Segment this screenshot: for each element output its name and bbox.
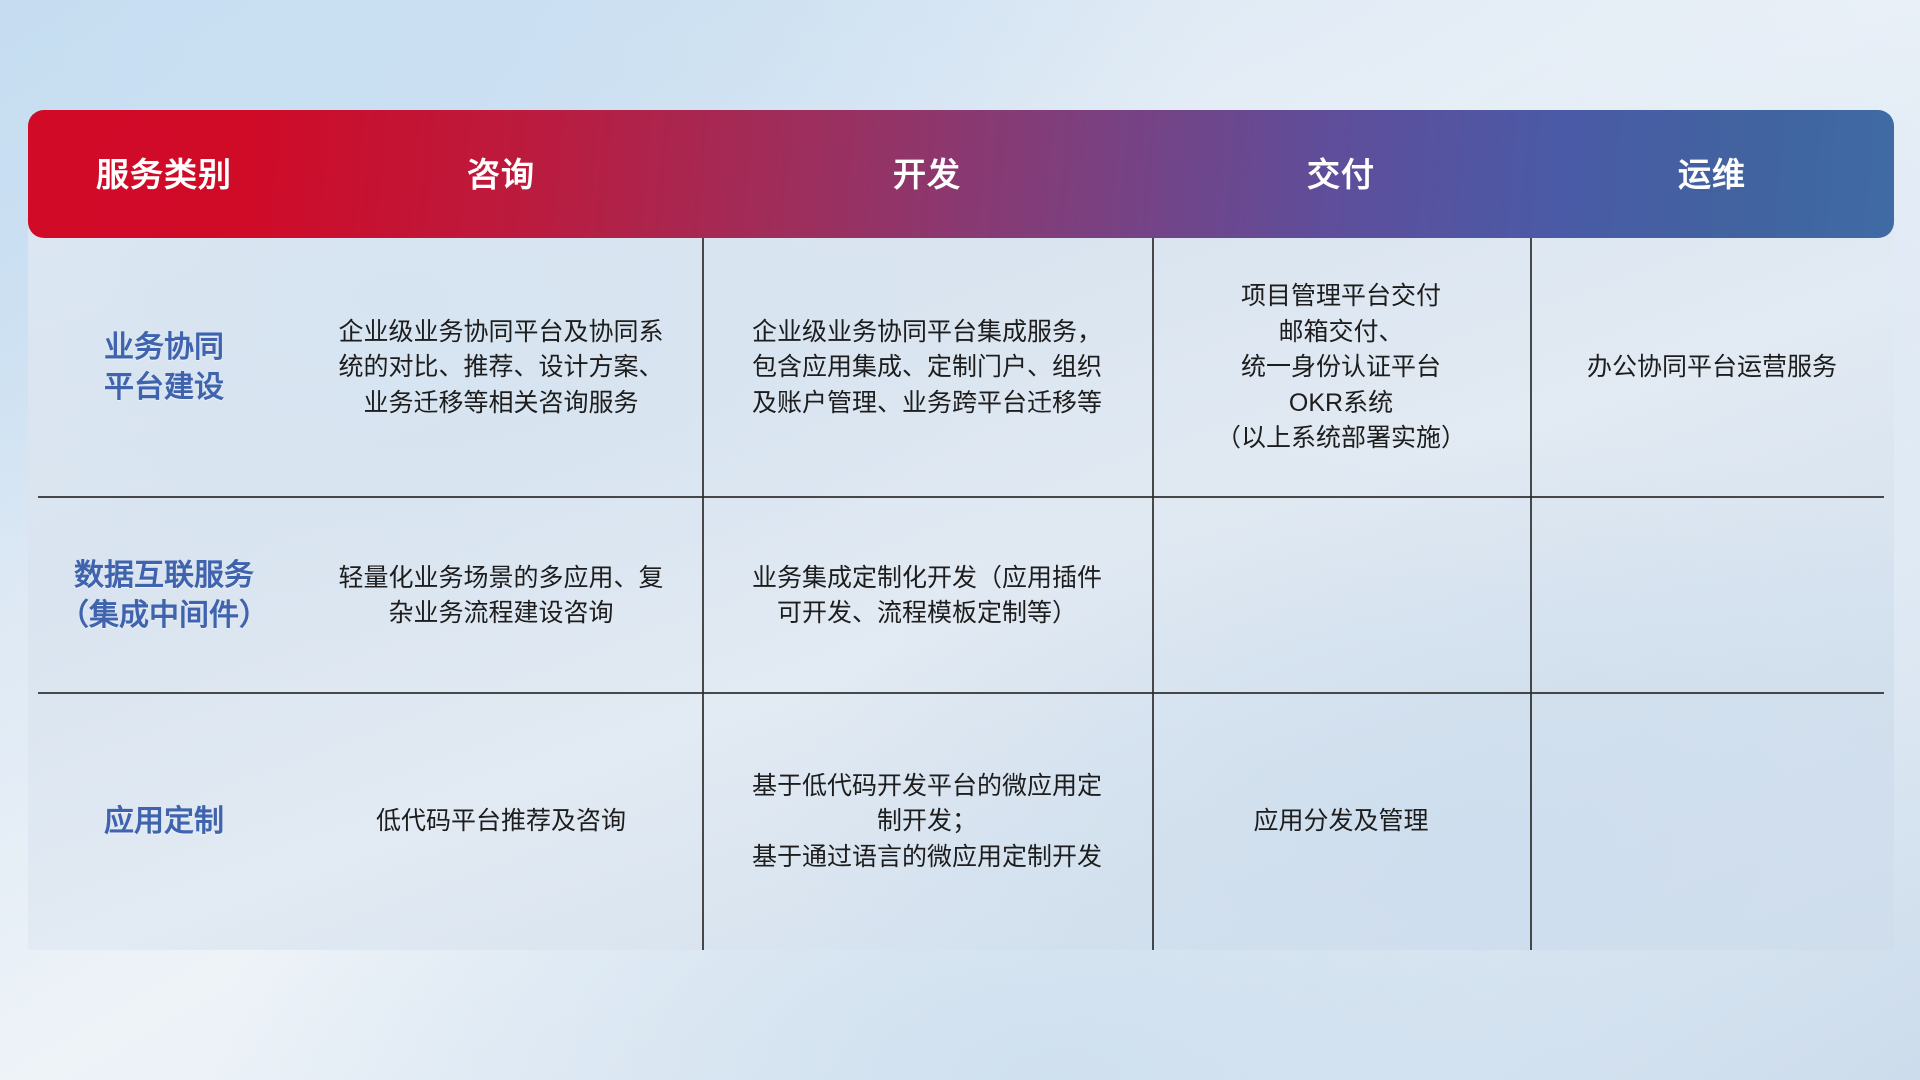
column-divider [1152, 238, 1154, 498]
column-divider [1152, 498, 1154, 694]
column-divider [702, 498, 704, 694]
cell-delivery [1152, 498, 1530, 694]
column-header-category: 服务类别 [28, 158, 300, 191]
cell-consulting: 企业级业务协同平台及协同系 统的对比、推荐、设计方案、 业务迁移等相关咨询服务 [300, 238, 702, 498]
cell-text: 项目管理平台交付 邮箱交付、 统一身份认证平台 OKR系统 （以上系统部署实施） [1216, 279, 1466, 457]
row-label-cell: 业务协同 平台建设 [28, 238, 300, 498]
cell-text: 应用分发及管理 [1253, 804, 1428, 840]
row-label-text: 应用定制 [104, 802, 224, 843]
service-matrix-table: 服务类别 咨询 开发 交付 运维 业务协同 平台建设 企业级业务协同平台及协同系… [28, 110, 1894, 950]
column-divider [1530, 498, 1532, 694]
table-row: 应用定制 低代码平台推荐及咨询 基于低代码开发平台的微应用定 制开发； 基于通过… [28, 694, 1894, 950]
column-divider [702, 694, 704, 950]
column-header-development: 开发 [702, 158, 1152, 191]
cell-consulting: 低代码平台推荐及咨询 [300, 694, 702, 950]
cell-text: 办公协同平台运营服务 [1587, 350, 1837, 386]
cell-development: 企业级业务协同平台集成服务， 包含应用集成、定制门户、组织 及账户管理、业务跨平… [702, 238, 1152, 498]
column-divider [1152, 694, 1154, 950]
column-header-operations: 运维 [1530, 158, 1894, 191]
cell-text: 企业级业务协同平台集成服务， 包含应用集成、定制门户、组织 及账户管理、业务跨平… [752, 315, 1102, 422]
column-divider [1530, 694, 1532, 950]
column-header-consulting: 咨询 [300, 158, 702, 191]
row-label-text: 业务协同 平台建设 [104, 328, 224, 409]
table-body: 业务协同 平台建设 企业级业务协同平台及协同系 统的对比、推荐、设计方案、 业务… [28, 238, 1894, 950]
column-header-delivery: 交付 [1152, 158, 1530, 191]
cell-operations [1530, 694, 1894, 950]
table-row: 业务协同 平台建设 企业级业务协同平台及协同系 统的对比、推荐、设计方案、 业务… [28, 238, 1894, 498]
cell-operations: 办公协同平台运营服务 [1530, 238, 1894, 498]
cell-text: 企业级业务协同平台及协同系 统的对比、推荐、设计方案、 业务迁移等相关咨询服务 [338, 315, 663, 422]
cell-text: 低代码平台推荐及咨询 [376, 804, 626, 840]
cell-consulting: 轻量化业务场景的多应用、复 杂业务流程建设咨询 [300, 498, 702, 694]
cell-text: 业务集成定制化开发（应用插件 可开发、流程模板定制等） [752, 561, 1102, 632]
cell-operations [1530, 498, 1894, 694]
cell-delivery: 应用分发及管理 [1152, 694, 1530, 950]
cell-text: 轻量化业务场景的多应用、复 杂业务流程建设咨询 [338, 561, 663, 632]
cell-development: 基于低代码开发平台的微应用定 制开发； 基于通过语言的微应用定制开发 [702, 694, 1152, 950]
table-row: 数据互联服务 （集成中间件） 轻量化业务场景的多应用、复 杂业务流程建设咨询 业… [28, 498, 1894, 694]
row-label-cell: 数据互联服务 （集成中间件） [28, 498, 300, 694]
column-divider [1530, 238, 1532, 498]
cell-text: 基于低代码开发平台的微应用定 制开发； 基于通过语言的微应用定制开发 [752, 769, 1102, 876]
cell-development: 业务集成定制化开发（应用插件 可开发、流程模板定制等） [702, 498, 1152, 694]
cell-delivery: 项目管理平台交付 邮箱交付、 统一身份认证平台 OKR系统 （以上系统部署实施） [1152, 238, 1530, 498]
slide-canvas: 服务类别 咨询 开发 交付 运维 业务协同 平台建设 企业级业务协同平台及协同系… [0, 0, 1920, 1080]
table-header-row: 服务类别 咨询 开发 交付 运维 [28, 110, 1894, 238]
row-label-cell: 应用定制 [28, 694, 300, 950]
row-label-text: 数据互联服务 （集成中间件） [59, 556, 269, 637]
column-divider [702, 238, 704, 498]
